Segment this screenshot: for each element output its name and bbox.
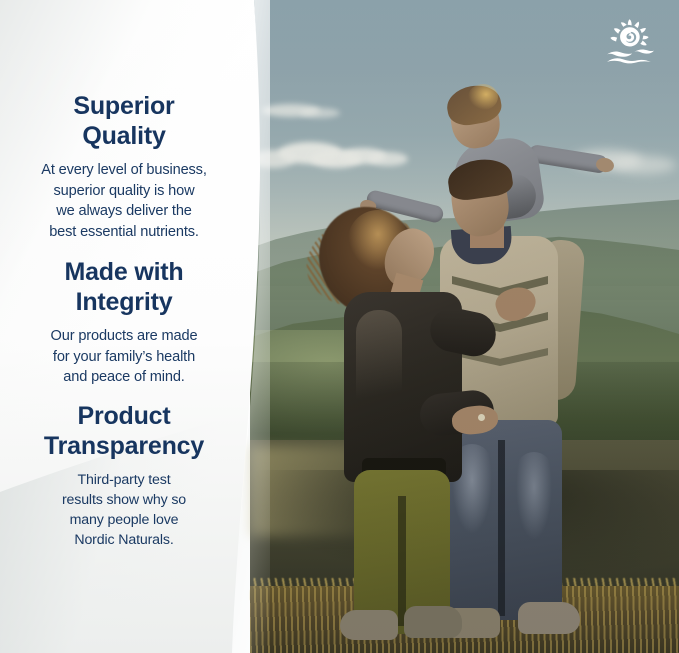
heading-line-2: Integrity xyxy=(76,288,173,316)
feature-heading: Product Transparency xyxy=(16,402,232,461)
woman-left-shoe xyxy=(340,610,398,640)
feature-body: Our products are made for your family’s … xyxy=(16,326,232,388)
body-line-3: and peace of mind. xyxy=(63,369,184,385)
body-line-3: we always deliver the xyxy=(56,203,192,219)
feature-block-superior-quality: Superior Quality At every level of busin… xyxy=(16,92,232,243)
feature-heading: Made with Integrity xyxy=(16,258,232,317)
woman-pants-seam xyxy=(398,496,406,626)
sun-wave-logo-icon xyxy=(604,18,656,66)
heading-line-1: Made with xyxy=(64,258,183,286)
heading-line-1: Product xyxy=(77,402,170,430)
man-jeans-highlight xyxy=(516,452,552,540)
heading-line-2: Quality xyxy=(82,122,165,150)
man-jeans-seam xyxy=(498,440,505,616)
feature-body: Third-party test results show why so man… xyxy=(16,470,232,551)
body-line-3: many people love xyxy=(70,512,179,528)
child-hair-highlight xyxy=(468,84,498,110)
body-line-2: for your family’s health xyxy=(53,349,195,365)
cloud xyxy=(368,152,408,166)
woman-right-shoe xyxy=(404,606,462,638)
feature-block-product-transparency: Product Transparency Third-party test re… xyxy=(16,402,232,551)
body-line-2: superior quality is how xyxy=(54,183,195,199)
body-line-4: best essential nutrients. xyxy=(49,224,199,240)
wedding-ring xyxy=(478,414,485,421)
body-line-1: Third-party test xyxy=(78,472,171,488)
promo-banner: Superior Quality At every level of busin… xyxy=(0,0,679,653)
body-line-1: Our products are made xyxy=(51,328,198,344)
cloud xyxy=(612,156,676,174)
woman-jacket-sheen xyxy=(356,310,402,430)
feature-body: At every level of business, superior qua… xyxy=(16,160,232,243)
heading-line-2: Transparency xyxy=(44,432,204,460)
man-right-shoe xyxy=(518,602,580,634)
feature-heading: Superior Quality xyxy=(16,92,232,151)
heading-line-1: Superior xyxy=(73,92,174,120)
cloud xyxy=(300,108,340,118)
feature-block-made-with-integrity: Made with Integrity Our products are mad… xyxy=(16,258,232,388)
body-line-1: At every level of business, xyxy=(41,162,206,178)
body-line-4: Nordic Naturals. xyxy=(74,532,173,548)
body-line-2: results show why so xyxy=(62,492,186,508)
panel-content: Superior Quality At every level of busin… xyxy=(0,0,256,653)
